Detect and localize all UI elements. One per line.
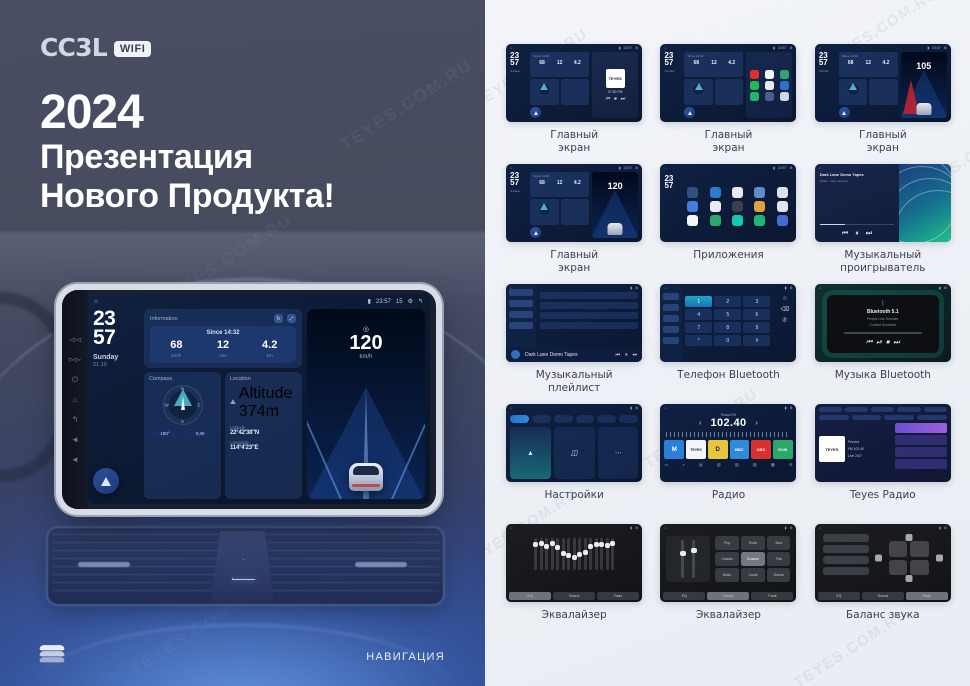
gallery-item[interactable]: TEYES Россия FM 102.40 Live 24/7 (810, 404, 956, 524)
tab-balance[interactable]: Fade (751, 592, 793, 600)
preset-station[interactable]: D (708, 440, 728, 459)
sidebar-item-folders (509, 322, 533, 329)
st-icon[interactable]: ▧ (753, 462, 757, 467)
power-icon[interactable]: ⏻ (72, 376, 78, 384)
clock-widget: 2357Sunday (510, 172, 527, 238)
call-actions[interactable]: ☆ ⌫ ✆ (773, 284, 796, 362)
gmail-icon (687, 215, 698, 226)
compass-title: Compass (149, 376, 216, 382)
navigation-arrow-button[interactable] (93, 468, 119, 494)
compass-card (530, 79, 559, 105)
app-shortcuts-widget (746, 52, 792, 118)
progress-bar[interactable] (820, 224, 894, 226)
speed-readout: ◎ 120 km/h (307, 325, 425, 360)
eq-icon[interactable]: ▥ (717, 462, 721, 467)
stop-icon: ⏹ (614, 96, 617, 102)
home-icon: ⌂ (819, 46, 821, 50)
home-icon: ⌂ (510, 46, 512, 50)
gear-icon: ⚙ (789, 166, 792, 170)
clock-column: 23 57 Sunday 21.10 (93, 309, 139, 499)
gallery-item[interactable]: ⌂▮23:57⚙ 2357Sunday Since 14:32 68124.2 (501, 164, 647, 284)
location-card[interactable]: Location ⛰ Altitude 374m (225, 372, 302, 499)
screen-thumbnail-music-player[interactable]: ⌂▮⚙ Dark Lane Demo Tapes Drake · Rap Cla… (815, 164, 951, 242)
preset-button[interactable]: Vocal (741, 568, 764, 582)
station-list[interactable] (895, 423, 947, 475)
home-icon[interactable]: ⌂ (94, 299, 98, 305)
album-art: TEYES (606, 69, 625, 88)
eq-band-slider[interactable] (556, 538, 559, 570)
equalizer-tabs[interactable]: EQ Sound Fade (660, 592, 796, 602)
tab-sound[interactable] (532, 415, 551, 423)
thumbnail-caption: Главный экран (550, 129, 598, 155)
balance-left-button[interactable] (875, 555, 882, 562)
home-icon: ⌂ (819, 286, 821, 290)
compass-label-e: E (197, 403, 200, 408)
eq-band-slider[interactable] (545, 538, 548, 570)
arrow-up-icon (688, 111, 692, 115)
dialpad-keys[interactable]: 1 2 3 4 5 6 7 8 9 * 0 # (682, 293, 773, 349)
now-playing-bar[interactable]: Dark Lane Demo Tapes ⏮ ⏸ ⏭ (506, 347, 642, 362)
wifi-icon: ▮ (939, 526, 941, 530)
gallery-item[interactable]: ⌂▮⚙ Dark Lane Demo Tapes ⏮ ⏸ ⏭ (501, 284, 647, 404)
tab-balance[interactable]: Fade (906, 592, 948, 600)
screen-thumbnail-radio[interactable]: ⌂▮⚙ Russia FM ‹ 102.40 › M TEYES D (660, 404, 796, 482)
prev-track-icon: ⏮ (866, 339, 872, 347)
screen-thumbnail-bluetooth-phone[interactable]: ⌂▮⚙ 1 2 3 4 5 6 7 8 9 * (660, 284, 796, 362)
vehicle-3d-model (349, 463, 383, 491)
tab-countries (871, 407, 894, 412)
clock-date: 21.10 (93, 362, 139, 368)
wifi-card[interactable]: ▲ (510, 427, 551, 479)
trip-stat-value: 12 (705, 60, 723, 66)
compass-card (530, 199, 559, 225)
gallery-item[interactable]: ⌂▮⚙ Pop Rock Jazz Classic Custom Fla (655, 524, 801, 644)
preset-button[interactable]: Flat (767, 552, 790, 566)
trip-stat-value: 68 (687, 60, 705, 66)
screen-thumbnail-teyes-radio[interactable]: TEYES Россия FM 102.40 Live 24/7 (815, 404, 951, 482)
list-icon[interactable]: ▤ (699, 462, 703, 467)
tab-time[interactable] (576, 415, 595, 423)
status-bar: ⌂ ▮ 23:57 15 ⚙ ↰ (88, 294, 430, 309)
tab-system[interactable] (554, 415, 573, 423)
treble-slider[interactable] (692, 540, 695, 578)
eq-band-slider[interactable] (589, 538, 592, 570)
clock-widget: 2357Sunday (664, 52, 681, 118)
altitude-label: Altitude (239, 385, 292, 403)
clock-day: Sunday (664, 70, 681, 73)
longitude-row: Longitude 114°4'23"E (230, 440, 297, 451)
preset-button[interactable]: Bass (715, 568, 738, 582)
refresh-icon[interactable]: ↻ (274, 314, 283, 323)
eq-band-slider[interactable] (611, 538, 614, 570)
gear-icon[interactable]: ⚙ (408, 298, 413, 305)
thumbnail-caption: Музыкальный проигрыватель (840, 249, 925, 275)
list-item[interactable] (540, 322, 638, 329)
gallery-item[interactable]: ⌂▮⚙ ▲ ◫ ⋯ (501, 404, 647, 524)
driving-view[interactable]: ◎ 120 km/h (307, 309, 425, 499)
keyboard-icon (732, 187, 743, 198)
volume-up-icon[interactable]: ◄ (71, 456, 79, 464)
gallery-item[interactable]: ⌂▮⚙ 1 2 3 4 5 6 7 8 9 * (655, 284, 801, 404)
screen-thumbnail-home-apps[interactable]: ⌂▮23:57⚙ 2357Sunday Since 14:32 68124.2 (660, 44, 796, 122)
backspace-icon[interactable]: ⌫ (781, 306, 789, 313)
volume-level: 15 (396, 299, 403, 305)
prev-track-icon[interactable]: ◅◅ (69, 336, 81, 344)
compass-card[interactable]: Compass N E S W (144, 372, 221, 499)
station-presets[interactable]: M TEYES D BBC CBC ZVUK (660, 437, 796, 462)
favorite-icon[interactable]: ☆ (782, 295, 787, 302)
screen-thumbnail-sound-balance[interactable]: ⌂▮⚙ (815, 524, 951, 602)
home-icon: ⌂ (664, 46, 666, 50)
head-unit-screen[interactable]: ⌂ ▮ 23:57 15 ⚙ ↰ 23 57 Sunday 21.10 (88, 294, 430, 504)
dial-key-1[interactable]: 1 (685, 296, 712, 307)
latitude-row: Latitude 22°42'38"N (230, 425, 297, 436)
back-arrow-icon[interactable]: ↰ (418, 298, 423, 305)
next-track-icon[interactable]: ⏭ (633, 352, 638, 358)
home-icon[interactable]: ⌂ (73, 396, 78, 404)
compass-values: 180° S,W (149, 429, 216, 438)
screen-thumbnail-equalizer-presets[interactable]: ⌂▮⚙ Pop Rock Jazz Classic Custom Fla (660, 524, 796, 602)
compass-needle-icon (181, 396, 185, 410)
sidebar-item-artists (509, 311, 533, 318)
tab-eq[interactable]: EQ (818, 592, 860, 600)
head-unit-display[interactable]: ◅◅ ▻▻ ⏻ ⌂ ↰ ◄ ◄ ⌂ ▮ 23:57 15 ⚙ (62, 290, 436, 509)
clock-day: Sunday (93, 354, 139, 361)
wifi-icon: ▮ (785, 286, 787, 290)
tab-eq[interactable]: EQ (663, 592, 705, 600)
car-interior-photo: ◅◅ ▻▻ ⏻ ⌂ ↰ ◄ ◄ ⌂ ▮ 23:57 15 ⚙ (0, 232, 485, 686)
clock-day: Sunday (819, 70, 836, 73)
preset-button[interactable]: Rock (741, 536, 764, 550)
status-bar: ⌂▮⚙ (815, 284, 951, 291)
more-icon: ⋯ (614, 449, 621, 457)
dial-key-hash[interactable]: # (743, 335, 770, 346)
eq-band-slider[interactable] (551, 538, 554, 570)
screen-thumbnail-home-media[interactable]: ⌂▮23:57⚙ 2357Sunday Since 14:32 68124.2 (506, 44, 642, 122)
screen-thumbnail-apps[interactable]: ⌂▮23:57⚙ 2357 (660, 164, 796, 242)
information-title: Information (150, 316, 178, 322)
eq-band-slider[interactable] (578, 538, 581, 570)
station-frequency: FM 102.40 (848, 447, 892, 451)
compass-dial: N E S W (163, 385, 203, 425)
back-arrow-icon[interactable]: ↰ (72, 416, 79, 424)
tab-sound[interactable]: Sound (707, 592, 749, 600)
trip-stat-unit: km (246, 353, 293, 358)
compass-label-s: S (181, 419, 184, 424)
preset-station[interactable]: BBC (730, 440, 750, 459)
speaker-front-left[interactable] (889, 541, 908, 557)
eq-band-slider[interactable] (534, 538, 537, 570)
equalizer-tabs[interactable]: EQ Sound Fade (815, 592, 951, 602)
browser-icon (765, 70, 774, 79)
equalizer-tabs[interactable]: EQ Sound Fade (506, 592, 642, 602)
balance-presets[interactable] (823, 534, 869, 582)
status-bar: ⌂▮⚙ (660, 284, 796, 291)
gallery-item[interactable]: ⌂▮⚙ Dark Lane Demo Tapes Drake · Rap Cla… (810, 164, 956, 284)
search-icon[interactable]: ⌕ (682, 462, 684, 467)
equalizer-icon (732, 201, 743, 212)
screen-thumbnail-home-road-2[interactable]: ⌂▮23:57⚙ 2357Sunday Since 14:32 68124.2 (506, 164, 642, 242)
bass-slider[interactable] (681, 540, 684, 578)
balance-controls[interactable] (815, 524, 951, 582)
home-layout: 2357Sunday Since 14:32 68124.2 (506, 164, 642, 242)
information-card: Since 14:32 68124.2 (839, 52, 898, 77)
list-item[interactable] (540, 312, 638, 319)
sidebar-item-contacts (663, 304, 679, 311)
balance-up-button[interactable] (905, 534, 912, 541)
settings-icon[interactable]: ⚙ (789, 462, 793, 467)
speaker-rear-left[interactable] (889, 560, 908, 576)
gallery-item[interactable]: ⌂▮23:57⚙ 2357Sunday Since 14:32 68124.2 (655, 44, 801, 164)
screen-thumbnail-settings[interactable]: ⌂▮⚙ ▲ ◫ ⋯ (506, 404, 642, 482)
tab-sound[interactable]: Sound (862, 592, 904, 600)
widget-row: Compass N E S W (144, 372, 302, 499)
product-logo: CC3L WIFI (40, 33, 151, 62)
expand-icon[interactable]: ⤢ (287, 314, 296, 323)
preset-buttons[interactable]: Pop Rock Jazz Classic Custom Flat Bass V… (715, 536, 790, 582)
status-bar: ⌂▮⚙ (506, 524, 642, 531)
home-icon: ⌂ (819, 166, 821, 170)
gallery-item[interactable]: ⌂▮⚙ (501, 524, 647, 644)
dial-key-star[interactable]: * (685, 335, 712, 346)
tab-balance[interactable]: Fade (597, 592, 639, 600)
information-card[interactable]: Information ↻ ⤢ Since 14:32 (144, 309, 302, 368)
youtube-icon (750, 70, 759, 79)
eq-band-slider[interactable] (600, 538, 603, 570)
tab-display[interactable] (597, 415, 616, 423)
vent-slot-right (355, 562, 407, 567)
trip-stat-value: 68 (842, 60, 860, 66)
thumbnail-caption: Музыка Bluetooth (835, 369, 931, 382)
longitude-value: 114°4'23"E (230, 445, 297, 451)
head-unit-side-buttons[interactable]: ◅◅ ▻▻ ⏻ ⌂ ↰ ◄ ◄ (62, 290, 88, 509)
status-bar: ⌂▮23:57⚙ (815, 44, 951, 51)
location-card (561, 199, 590, 225)
home-icon: ⌂ (664, 526, 666, 530)
next-station-icon[interactable]: › (756, 420, 758, 427)
status-time: 23:57 (778, 166, 787, 170)
dial-key-3[interactable]: 3 (743, 296, 770, 307)
speaker-front-right[interactable] (910, 541, 929, 557)
dialpad-area[interactable]: 1 2 3 4 5 6 7 8 9 * 0 # (682, 284, 773, 362)
next-track-icon: ⏭ (893, 339, 899, 347)
list-item[interactable] (540, 292, 638, 299)
sound-controls[interactable]: Pop Rock Jazz Classic Custom Flat Bass V… (660, 524, 796, 582)
preset-button[interactable]: Pop (715, 536, 738, 550)
home-icon: ⌂ (510, 406, 512, 410)
driving-view: 120 (592, 172, 638, 238)
altitude-row: ⛰ Altitude 374m (230, 385, 297, 421)
phone-sidebar[interactable] (660, 284, 682, 362)
preset-station[interactable]: TEYES (686, 440, 706, 459)
trip-since: Since 14:32 (842, 54, 895, 58)
loc-icon[interactable]: ▨ (735, 462, 739, 467)
list-item (895, 423, 947, 433)
tab-eq[interactable]: EQ (509, 592, 551, 600)
teyes-radio-tabs[interactable] (815, 404, 951, 415)
screens-grid: ⌂▮23:57⚙ 2357Sunday Since 14:32 68124.2 (501, 44, 956, 644)
filter-popular (852, 415, 882, 420)
tab-sound[interactable]: Sound (553, 592, 595, 600)
gear-icon: ⚙ (635, 166, 638, 170)
wifi-icon: ▮ (773, 166, 775, 170)
more-card[interactable]: ⋯ (598, 427, 639, 479)
list-item (895, 459, 947, 469)
track-title: Dark Lane Demo Tapes (820, 172, 894, 177)
gear-icon: ⚙ (635, 526, 638, 530)
status-bar: ⌂▮23:57⚙ (660, 44, 796, 51)
headline-line-2: Нового Продукта! (40, 177, 334, 216)
mail-icon (780, 81, 789, 90)
driving-view: 105 (901, 52, 947, 118)
arrow-up-icon (534, 231, 538, 235)
prev-station-icon[interactable]: ‹ (699, 420, 701, 427)
track-title: People Like Summer (867, 317, 898, 321)
dial-key-9[interactable]: 9 (743, 322, 770, 333)
settings-cards[interactable]: ▲ ◫ ⋯ (506, 427, 642, 482)
eq-band-slider[interactable] (606, 538, 609, 570)
preset-button[interactable]: Jazz (767, 536, 790, 550)
headline: 2024 Презентация Нового Продукта! (40, 88, 334, 215)
status-bar: ⌂▮23:57⚙ (506, 44, 642, 51)
speed-value: 105 (901, 61, 947, 71)
compass-card (839, 79, 868, 105)
bluetooth-icon (710, 187, 721, 198)
screen-thumbnail-equalizer-bars[interactable]: ⌂▮⚙ (506, 524, 642, 602)
logo-text: CC3L (40, 33, 107, 62)
trip-stat-value: 4.2 (877, 60, 895, 66)
balance-down-button[interactable] (905, 575, 912, 582)
all-apps-icon (780, 92, 789, 101)
teyes-radio-filters[interactable] (815, 415, 951, 423)
spotify-icon (750, 81, 759, 90)
trip-stat-value: 4.2 (246, 340, 293, 351)
tab-home (819, 407, 842, 412)
preset-front (823, 534, 869, 542)
pause-icon[interactable]: ⏸ (855, 230, 859, 238)
trip-stat-value: 4.2 (723, 60, 741, 66)
home-icon: ⌂ (664, 286, 666, 290)
progress-bar[interactable] (844, 332, 922, 334)
gallery-item[interactable]: ⌂▮⚙ (810, 524, 956, 644)
balance-right-button[interactable] (936, 555, 943, 562)
dial-key-4[interactable]: 4 (685, 309, 712, 320)
playback-controls[interactable]: ⏮ ⏸ ⏭ (820, 230, 894, 238)
dial-key-6[interactable]: 6 (743, 309, 770, 320)
calculator-icon (754, 187, 765, 198)
eq-band-slider[interactable] (540, 538, 543, 570)
pause-icon[interactable]: ⏸ (625, 352, 628, 358)
dial-key-7[interactable]: 7 (685, 322, 712, 333)
band-button[interactable]: ▭ (664, 462, 668, 467)
af-icon[interactable]: ▩ (771, 462, 775, 467)
level-sliders[interactable] (666, 536, 710, 582)
preset-rear (823, 545, 869, 553)
bluetooth-version: Bluetooth 5.1 (867, 309, 899, 315)
next-track-icon[interactable]: ▻▻ (69, 356, 81, 364)
tab-wifi[interactable] (510, 415, 529, 423)
hero-panel: TEYES.COM.RU TEYES.COM.RU TEYES.COM.RU C… (0, 0, 485, 686)
call-icon[interactable]: ✆ (782, 317, 787, 324)
volume-down-icon[interactable]: ◄ (71, 436, 79, 444)
next-track-icon[interactable]: ⏭ (866, 230, 872, 238)
status-time: 23:57 (376, 299, 391, 305)
thumbnail-caption: Радио (712, 489, 745, 502)
eq-band-slider[interactable] (584, 538, 587, 570)
wifi-icon: ▮ (630, 286, 632, 290)
speed-value: 120 (307, 333, 425, 353)
contacts-icon (710, 201, 721, 212)
trip-stat-value: 12 (200, 340, 247, 351)
preset-button[interactable]: Classic (715, 552, 738, 566)
clock-widget: 2357Sunday (819, 52, 836, 118)
wifi-icon: ▮ (785, 526, 787, 530)
preset-button[interactable]: Dance (767, 568, 790, 582)
dial-key-8[interactable]: 8 (714, 322, 741, 333)
preset-station[interactable]: CBC (751, 440, 771, 459)
mountain-icon: ⛰ (230, 399, 236, 407)
eq-band-slider[interactable] (567, 538, 570, 570)
gear-icon: ⚙ (789, 526, 792, 530)
settings-tabs[interactable] (506, 411, 642, 427)
prev-track-icon[interactable]: ⏮ (842, 230, 848, 238)
radio-toolbar[interactable]: ▭⌕ ▤▥ ▨▧ ▩⚙ (660, 462, 796, 467)
dial-key-5[interactable]: 5 (714, 309, 741, 320)
gallery-item[interactable]: ⌂▮⚙ ᛒ Bluetooth 5.1 People Like Summer C… (810, 284, 956, 404)
hazard-light-icon (230, 556, 256, 578)
prev-track-icon: ⏮ (605, 96, 610, 102)
status-bar: ⌂▮⚙ (660, 404, 796, 411)
tab-other[interactable] (619, 415, 638, 423)
thumbnail-caption: Приложения (693, 249, 763, 262)
eq-band-slider[interactable] (595, 538, 598, 570)
compass-cone-icon (540, 83, 548, 90)
gallery-item[interactable]: ⌂▮23:57⚙ 2357Sunday Since 14:32 68124.2 (501, 44, 647, 164)
prev-track-icon[interactable]: ⏮ (616, 352, 621, 358)
dial-key-2[interactable]: 2 (714, 296, 741, 307)
preset-button[interactable]: Custom (741, 552, 764, 566)
wifi-icon: ▲ (527, 450, 534, 457)
gallery-item[interactable]: ⌂▮23:57⚙ 2357Sunday Since 14:32 68124.2 (810, 44, 956, 164)
eq-band-slider[interactable] (573, 538, 576, 570)
wifi-icon: ▮ (368, 298, 371, 305)
screen-thumbnail-home-road[interactable]: ⌂▮23:57⚙ 2357Sunday Since 14:32 68124.2 (815, 44, 951, 122)
dial-key-0[interactable]: 0 (714, 335, 741, 346)
thumbnail-caption: Teyes Радио (850, 489, 916, 502)
information-card-header: Information ↻ ⤢ (150, 314, 296, 323)
station-meta: Россия FM 102.40 Live 24/7 (848, 423, 892, 475)
list-item[interactable] (540, 302, 638, 309)
screen-thumbnail-playlist[interactable]: ⌂▮⚙ Dark Lane Demo Tapes ⏮ ⏸ ⏭ (506, 284, 642, 362)
preset-station[interactable]: M (664, 440, 684, 459)
eq-band-slider[interactable] (562, 538, 565, 570)
playback-controls[interactable]: ⏮⏯⏹⏭ (866, 339, 900, 347)
compass-card (684, 79, 713, 105)
home-layout: 2357Sunday Since 14:32 68124.2 (815, 44, 951, 122)
preset-station[interactable]: ZVUK (773, 440, 793, 459)
balance-pad[interactable] (875, 534, 943, 582)
music-player-icon (732, 215, 743, 226)
carplay-card[interactable]: ◫ (554, 427, 595, 479)
thumbnail-caption: Музыкальный плейлист (536, 369, 613, 395)
gallery-item[interactable]: ⌂▮23:57⚙ 2357 (655, 164, 801, 284)
screen-thumbnail-bluetooth-music[interactable]: ⌂▮⚙ ᛒ Bluetooth 5.1 People Like Summer C… (815, 284, 951, 362)
station-country: Россия (848, 440, 892, 444)
speed-unit: km/h (307, 354, 425, 360)
speaker-rear-right[interactable] (910, 560, 929, 576)
gallery-item[interactable]: ⌂▮⚙ Russia FM ‹ 102.40 › M TEYES D (655, 404, 801, 524)
radio-frequency: 102.40 (710, 417, 746, 429)
